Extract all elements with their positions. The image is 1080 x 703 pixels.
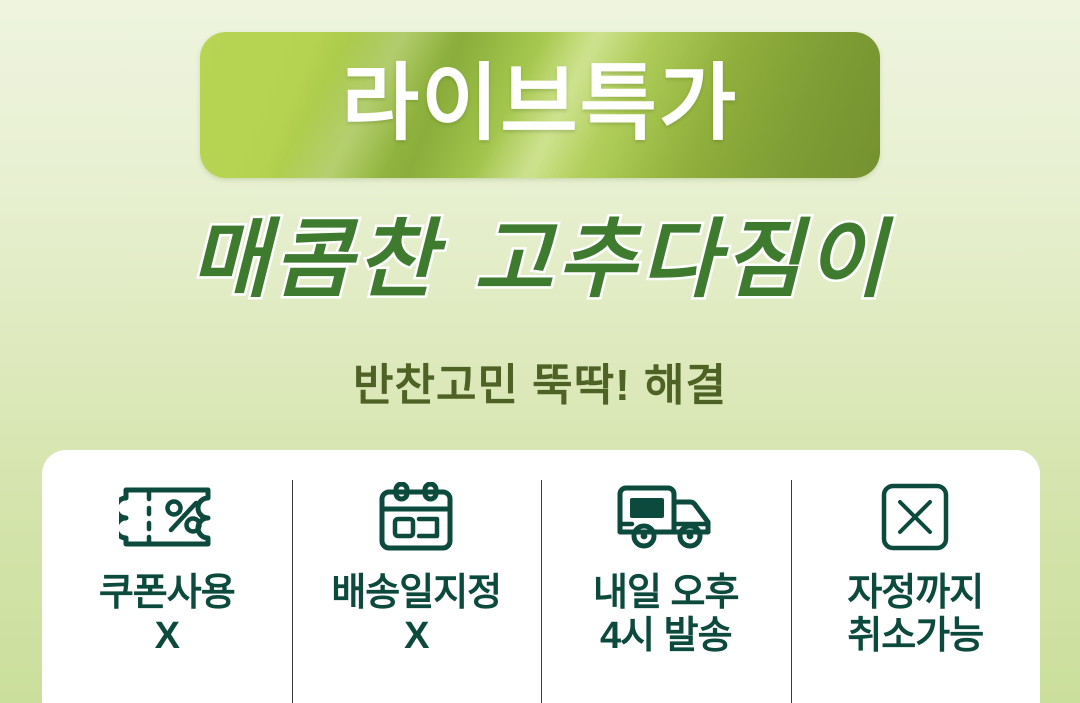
badge-label: 라이브특가 [200, 32, 880, 178]
feature-label: 쿠폰사용 X [99, 572, 235, 659]
promo-banner: 라이브특가 매콤찬 고추다짐이 반찬고민 뚝딱! 해결 쿠폰사용 X [0, 0, 1080, 703]
feature-label: 배송일지정 X [331, 572, 501, 659]
feature-item-coupon: 쿠폰사용 X [42, 450, 292, 703]
feature-item-shipping-time: 내일 오후 4시 발송 [541, 450, 791, 703]
cancel-x-box-icon [881, 484, 949, 550]
feature-label: 자정까지 취소가능 [847, 572, 983, 659]
feature-card: 쿠폰사용 X 배송일지정 X [42, 450, 1040, 703]
calendar-icon [378, 484, 454, 550]
feature-item-delivery-date: 배송일지정 X [292, 450, 542, 703]
live-deal-badge: 라이브특가 [200, 32, 880, 178]
feature-label: 내일 오후 4시 발송 [593, 572, 738, 659]
coupon-percent-icon [119, 484, 215, 550]
headline: 매콤찬 고추다짐이 [0, 212, 1080, 308]
subheading: 반찬고민 뚝딱! 해결 [0, 362, 1080, 410]
delivery-truck-icon [616, 484, 716, 550]
badge-surface: 라이브특가 [200, 32, 880, 178]
feature-item-cancel: 자정까지 취소가능 [791, 450, 1041, 703]
